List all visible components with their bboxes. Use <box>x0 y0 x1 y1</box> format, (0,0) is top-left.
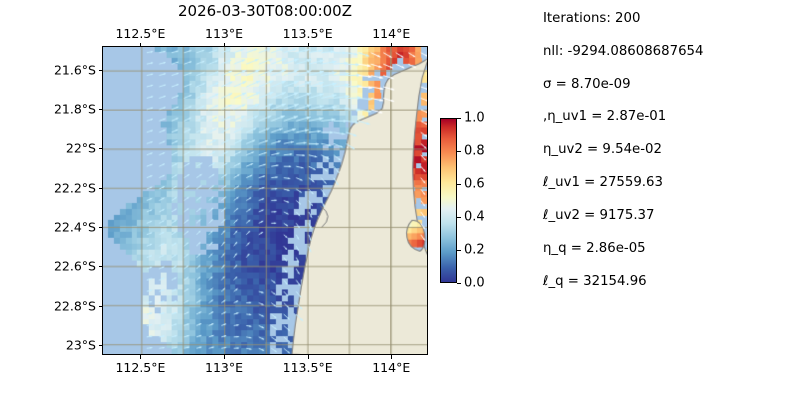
x-axis-tick-label-bottom: 113.5°E <box>283 360 333 375</box>
y-tickmark <box>99 266 103 267</box>
colorbar-tick-label: 0.8 <box>464 144 485 159</box>
info-line-ell-uv1: ℓ_uv1 = 27559.63 <box>543 176 793 191</box>
map-plot-area[interactable] <box>102 46 428 355</box>
x-tickmark <box>391 355 392 359</box>
x-tickmark <box>140 355 141 359</box>
colorbar-tickmark <box>457 184 461 185</box>
info-line-sigma: σ = 8.70e-09 <box>543 78 793 93</box>
info-line-iterations: Iterations: 200 <box>543 12 793 27</box>
x-axis-tick-label-bottom: 112.5°E <box>115 360 165 375</box>
info-line-eta-uv2: η_uv2 = 9.54e-02 <box>543 143 793 158</box>
x-axis-tick-label-top: 112.5°E <box>115 26 165 41</box>
x-axis-tick-label-top: 113°E <box>205 26 243 41</box>
x-tickmark <box>140 43 141 47</box>
colorbar-tick-label: 1.0 <box>464 111 485 126</box>
y-tickmark <box>99 109 103 110</box>
x-tickmark <box>308 355 309 359</box>
y-tickmark <box>99 306 103 307</box>
info-line-eta-uv1: ,η_uv1 = 2.87e-01 <box>543 110 793 125</box>
colorbar-tick-label: 0.6 <box>464 177 485 192</box>
colorbar-tick-label: 0.4 <box>464 210 485 225</box>
x-tickmark <box>391 43 392 47</box>
y-axis-tick-label: 22°S <box>26 141 96 156</box>
x-tickmark <box>224 355 225 359</box>
y-axis-tick-label: 22.8°S <box>26 298 96 313</box>
colorbar-tickmark <box>457 217 461 218</box>
info-line-ell-uv2: ℓ_uv2 = 9175.37 <box>543 209 793 224</box>
colorbar-tick-label: 0.0 <box>464 276 485 291</box>
y-tickmark <box>99 345 103 346</box>
colorbar <box>440 118 457 283</box>
x-tickmark <box>308 43 309 47</box>
page-title: 2026-03-30T08:00:00Z <box>102 2 428 20</box>
colorbar-tick-label: 0.2 <box>464 243 485 258</box>
info-line-eta-q: η_q = 2.86e-05 <box>543 242 793 257</box>
y-axis-tick-label: 23°S <box>26 338 96 353</box>
x-tickmark <box>224 43 225 47</box>
y-tickmark <box>99 70 103 71</box>
x-axis-tick-label-top: 113.5°E <box>283 26 333 41</box>
y-tickmark <box>99 188 103 189</box>
info-line-nll: nll: -9294.08608687654 <box>543 45 793 60</box>
x-axis-tick-label-bottom: 113°E <box>205 360 243 375</box>
colorbar-tickmark <box>457 118 461 119</box>
info-line-ell-q: ℓ_q = 32154.96 <box>543 275 793 290</box>
y-tickmark <box>99 227 103 228</box>
heatmap-quiver-canvas <box>103 47 427 354</box>
y-axis-tick-label: 22.2°S <box>26 180 96 195</box>
y-tickmark <box>99 148 103 149</box>
x-axis-tick-label-bottom: 114°E <box>372 360 410 375</box>
y-axis-tick-label: 22.4°S <box>26 220 96 235</box>
info-panel: Iterations: 200 nll: -9294.08608687654 σ… <box>543 12 793 307</box>
colorbar-tickmark <box>457 250 461 251</box>
y-axis-tick-label: 21.8°S <box>26 101 96 116</box>
x-axis-tick-label-top: 114°E <box>372 26 410 41</box>
y-axis-tick-label: 22.6°S <box>26 259 96 274</box>
colorbar-tickmark <box>457 283 461 284</box>
figure-canvas: 2026-03-30T08:00:00Z 112.5°E112.5°E113°E… <box>0 0 800 400</box>
colorbar-tickmark <box>457 151 461 152</box>
y-axis-tick-label: 21.6°S <box>26 62 96 77</box>
